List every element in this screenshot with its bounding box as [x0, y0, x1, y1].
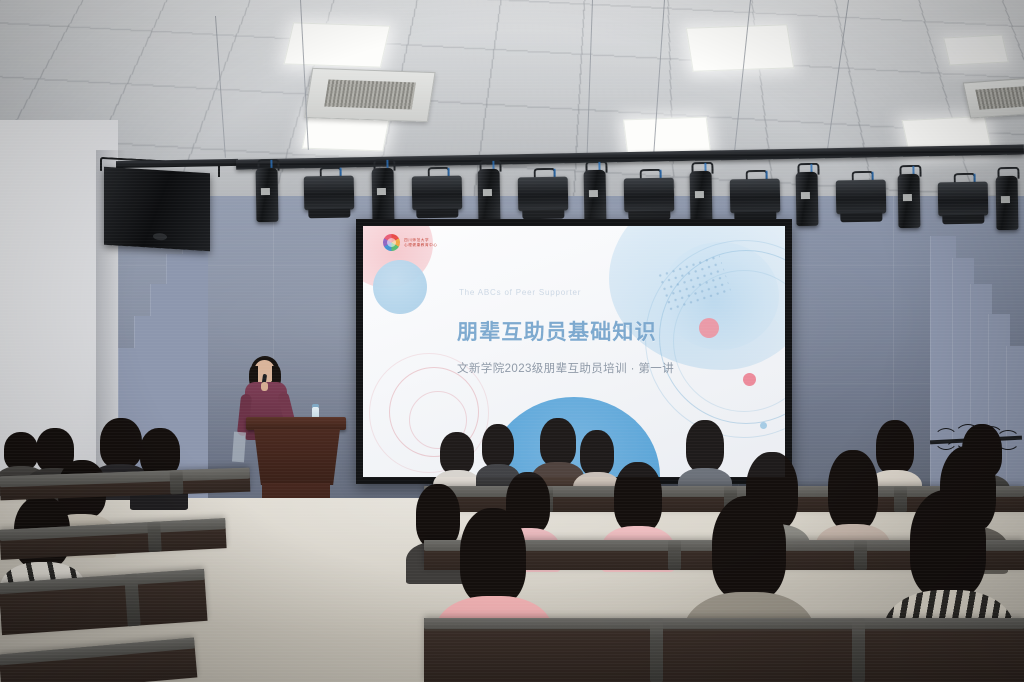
bench-divider [668, 540, 681, 570]
bench-divider [894, 486, 907, 512]
ceiling-led-panel [623, 117, 711, 156]
wall-loudspeaker [104, 167, 210, 251]
slide-logo: 四川师范大学 心理健康教育中心 [383, 234, 438, 251]
stage-light-par [898, 174, 921, 228]
stage-light-par [478, 169, 501, 223]
bench-divider [854, 540, 867, 570]
logo-line-2: 心理健康教育中心 [404, 243, 438, 247]
stage-light-flood [730, 179, 781, 214]
ac-vent [304, 68, 435, 122]
ac-vent [963, 77, 1024, 118]
ceiling-led-panel [284, 22, 391, 67]
stage-light-par [256, 168, 279, 222]
slide-pink-dot [743, 373, 756, 386]
logo-line-1: 四川师范大学 [404, 238, 438, 242]
stage-light-flood [624, 178, 675, 213]
logo-text: 四川师范大学 心理健康教育中心 [404, 238, 438, 248]
lecture-hall-photo: 四川师范大学 心理健康教育中心 The ABCs of Peer Support… [0, 0, 1024, 682]
slide-subtitle: 文新学院2023级朋辈互助员培训 · 第一讲 [457, 360, 674, 376]
slide-eyebrow-text: The ABCs of Peer Supporter [459, 288, 581, 297]
ceiling-led-panel [686, 24, 794, 72]
bench-divider [852, 618, 865, 682]
bench-divider [147, 522, 162, 553]
ceiling-led-panel [943, 34, 1009, 65]
bench-divider [650, 618, 663, 682]
stage-light-par [996, 176, 1019, 230]
ac-grille [975, 86, 1024, 109]
bench-row [424, 618, 1024, 682]
stage-light-par [690, 171, 713, 225]
stage-light-par [372, 168, 395, 222]
slide-title: 朋辈互助员基础知识 [457, 316, 657, 346]
university-emblem-icon [383, 234, 400, 251]
slide-blue-ball [373, 260, 427, 314]
podium-top [246, 417, 346, 430]
stage-light-flood [518, 177, 569, 212]
stage-light-flood [836, 180, 887, 215]
stage-light-flood [412, 176, 463, 211]
stage-light-par [796, 172, 819, 226]
slide-blue-dot [760, 422, 767, 429]
stage-light-flood [938, 182, 989, 217]
stage-light-par [584, 170, 607, 224]
stage-light-flood [304, 176, 355, 211]
presenter-hand [261, 382, 268, 391]
bench-divider [170, 470, 184, 494]
presenter-papers [232, 432, 246, 463]
podium-face [254, 429, 340, 485]
bench-rail [424, 618, 1024, 629]
ac-grille [324, 79, 416, 110]
slide-pink-dot [699, 318, 719, 338]
